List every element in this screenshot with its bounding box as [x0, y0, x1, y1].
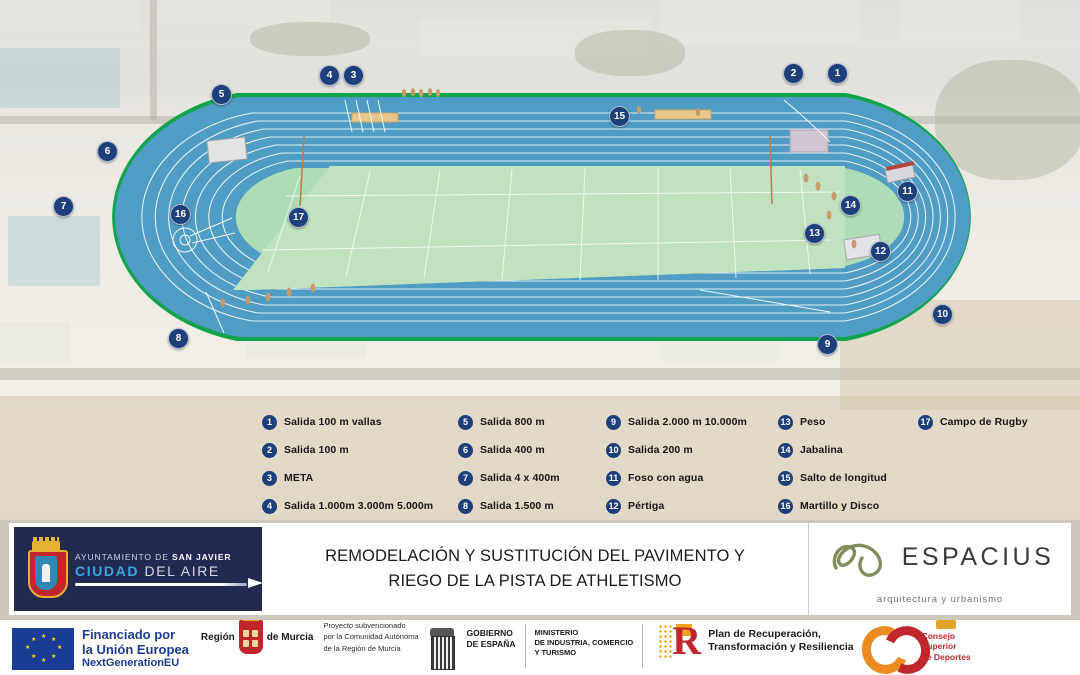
espacius-logo: ESPACIUS arquitectura y urbanismo — [808, 523, 1071, 615]
gobierno-line-2: DE ESPAÑA — [467, 639, 516, 650]
legend: 1 Salida 100 m vallas 2 Salida 100 m 3 M… — [262, 408, 1052, 518]
poster-root: 1 2 3 4 5 6 7 8 9 10 11 12 13 14 15 16 1… — [0, 0, 1080, 675]
legend-label-2: Salida 100 m — [284, 444, 349, 456]
region-de-murcia-logo: Región de Murcia — [201, 620, 314, 654]
ayuntamiento-text: AYUNTAMIENTO DE SAN JAVIER CIUDAD DEL AI… — [75, 552, 262, 586]
espacius-tagline: arquitectura y urbanismo — [877, 594, 1003, 605]
legend-item-6[interactable]: 6 Salida 400 m — [458, 443, 606, 458]
map-marker-9[interactable]: 9 — [817, 334, 838, 355]
plan-recuperacion-logo: R Plan de Recuperación, Transformación y… — [658, 620, 853, 662]
eu-flag-icon: ★ ★ ★ ★ ★ ★ ★ ★ — [12, 628, 74, 670]
map-marker-4[interactable]: 4 — [319, 65, 340, 86]
footer-divider-2 — [642, 624, 643, 668]
project-title-line-1: REMODELACIÓN Y SUSTITUCIÓN DEL PAVIMENTO… — [325, 544, 745, 569]
legend-item-14[interactable]: 14 Jabalina — [778, 443, 918, 458]
legend-label-17: Campo de Rugby — [940, 416, 1028, 428]
legend-label-16: Martillo y Disco — [800, 500, 879, 512]
map-marker-10[interactable]: 10 — [932, 304, 953, 325]
legend-item-12[interactable]: 12 Pértiga — [606, 499, 778, 514]
legend-badge-4: 4 — [262, 499, 277, 514]
legend-badge-9: 9 — [606, 415, 621, 430]
legend-item-3[interactable]: 3 META — [262, 471, 458, 486]
gobierno-text: GOBIERNO DE ESPAÑA — [467, 628, 516, 649]
map-marker-1[interactable]: 1 — [827, 63, 848, 84]
map-marker-14[interactable]: 14 — [840, 195, 861, 216]
legend-badge-6: 6 — [458, 443, 473, 458]
legend-label-7: Salida 4 x 400m — [480, 472, 560, 484]
legend-label-4: Salida 1.000m 3.000m 5.000m — [284, 500, 433, 512]
ministerio-line-3: Y TURISMO — [535, 648, 634, 658]
csd-mark-icon — [862, 620, 922, 662]
map-marker-17[interactable]: 17 — [288, 207, 309, 228]
prtr-line-2: Transformación y Resiliencia — [708, 641, 853, 654]
legend-label-1: Salida 100 m vallas — [284, 416, 382, 428]
map-marker-2[interactable]: 2 — [783, 63, 804, 84]
map-marker-8[interactable]: 8 — [168, 328, 189, 349]
prtr-text: Plan de Recuperación, Transformación y R… — [708, 628, 853, 654]
legend-badge-11: 11 — [606, 471, 621, 486]
eu-funding-text: Financiado por la Unión Europea NextGene… — [82, 628, 189, 669]
legend-item-8[interactable]: 8 Salida 1.500 m — [458, 499, 606, 514]
ciudad-word: CIUDAD — [75, 563, 139, 579]
legend-label-3: META — [284, 472, 313, 484]
legend-item-17[interactable]: 17 Campo de Rugby — [918, 415, 1052, 430]
legend-item-10[interactable]: 10 Salida 200 m — [606, 443, 778, 458]
legend-badge-2: 2 — [262, 443, 277, 458]
subvencion-line-2: por la Comunidad Autónoma — [323, 631, 418, 642]
ministerio-line-1: MINISTERIO — [535, 628, 634, 638]
legend-label-12: Pértiga — [628, 500, 664, 512]
legend-badge-7: 7 — [458, 471, 473, 486]
legend-badge-3: 3 — [262, 471, 277, 486]
legend-label-6: Salida 400 m — [480, 444, 545, 456]
legend-label-15: Salto de longitud — [800, 472, 887, 484]
eu-line-2: la Unión Europea — [82, 643, 189, 658]
eu-funding-block: ★ ★ ★ ★ ★ ★ ★ ★ Financiado por la Unión … — [0, 620, 189, 675]
subvencion-line-3: de la Región de Murcia — [323, 643, 418, 654]
project-title: REMODELACIÓN Y SUSTITUCIÓN DEL PAVIMENTO… — [262, 523, 808, 615]
legend-label-5: Salida 800 m — [480, 416, 545, 428]
legend-item-7[interactable]: 7 Salida 4 x 400m — [458, 471, 606, 486]
eu-line-1: Financiado por — [82, 628, 189, 643]
subvencion-line-1: Proyecto subvencionado — [323, 620, 418, 631]
plane-icon — [75, 583, 247, 586]
spain-crest-icon — [423, 628, 461, 672]
legend-label-10: Salida 200 m — [628, 444, 693, 456]
espacius-logo-row: ESPACIUS — [826, 534, 1055, 582]
legend-item-1[interactable]: 1 Salida 100 m vallas — [262, 415, 458, 430]
del-aire-word: DEL AIRE — [139, 563, 220, 579]
map-marker-5[interactable]: 5 — [211, 84, 232, 105]
crown-icon — [32, 541, 60, 550]
legend-label-8: Salida 1.500 m — [480, 500, 554, 512]
map-marker-16[interactable]: 16 — [170, 204, 191, 225]
murcia-prefix: Región — [201, 632, 235, 643]
shield-icon — [28, 550, 68, 598]
ayuntamiento-city: SAN JAVIER — [172, 552, 231, 562]
ministerio-line-2: DE INDUSTRIA, COMERCIO — [535, 638, 634, 648]
legend-badge-16: 16 — [778, 499, 793, 514]
espacius-name: ESPACIUS — [902, 543, 1055, 572]
legend-badge-5: 5 — [458, 415, 473, 430]
legend-badge-15: 15 — [778, 471, 793, 486]
ministerio-block: MINISTERIO DE INDUSTRIA, COMERCIO Y TURI… — [535, 620, 634, 675]
map-marker-12[interactable]: 12 — [870, 241, 891, 262]
map-marker-15[interactable]: 15 — [609, 106, 630, 127]
legend-badge-13: 13 — [778, 415, 793, 430]
murcia-crest-icon — [239, 620, 263, 654]
legend-item-15[interactable]: 15 Salto de longitud — [778, 471, 918, 486]
map-marker-6[interactable]: 6 — [97, 141, 118, 162]
long-jump-pit — [655, 110, 711, 119]
eu-line-3: NextGenerationEU — [82, 657, 189, 669]
legend-label-11: Foso con agua — [628, 472, 703, 484]
legend-item-11[interactable]: 11 Foso con agua — [606, 471, 778, 486]
gobierno-de-espana-logo: GOBIERNO DE ESPAÑA — [419, 620, 516, 675]
ayuntamiento-san-javier-logo: AYUNTAMIENTO DE SAN JAVIER CIUDAD DEL AI… — [14, 527, 262, 611]
funding-footer: ★ ★ ★ ★ ★ ★ ★ ★ Financiado por la Unión … — [0, 620, 1080, 675]
legend-label-9: Salida 2.000 m 10.000m — [628, 416, 747, 428]
footer-divider-1 — [525, 624, 526, 668]
legend-item-2[interactable]: 2 Salida 100 m — [262, 443, 458, 458]
legend-item-9[interactable]: 9 Salida 2.000 m 10.000m — [606, 415, 778, 430]
ayuntamiento-line-1: AYUNTAMIENTO DE SAN JAVIER — [75, 552, 262, 562]
murcia-suffix: de Murcia — [267, 632, 314, 643]
legend-item-4[interactable]: 4 Salida 1.000m 3.000m 5.000m — [262, 499, 458, 514]
pole-vault-box — [790, 130, 828, 152]
map-marker-7[interactable]: 7 — [53, 196, 74, 217]
legend-badge-17: 17 — [918, 415, 933, 430]
legend-item-16[interactable]: 16 Martillo y Disco — [778, 499, 918, 514]
gobierno-line-1: GOBIERNO — [467, 628, 516, 639]
csd-crown-icon — [936, 620, 956, 629]
legend-item-5[interactable]: 5 Salida 800 m — [458, 415, 606, 430]
prtr-mark-icon: R — [658, 620, 704, 662]
map-marker-11[interactable]: 11 — [897, 181, 918, 202]
project-title-line-2: RIEGO DE LA PISTA DE ATHLETISMO — [388, 569, 681, 594]
ayuntamiento-line-2: CIUDAD DEL AIRE — [75, 563, 262, 579]
prtr-line-1: Plan de Recuperación, — [708, 628, 853, 641]
csd-line-1: Consejo — [922, 631, 971, 641]
legend-badge-8: 8 — [458, 499, 473, 514]
consejo-superior-deportes-logo: Consejo Superior de Deportes — [862, 620, 971, 662]
ministerio-text: MINISTERIO DE INDUSTRIA, COMERCIO Y TURI… — [535, 628, 634, 657]
coat-of-arms-icon — [26, 541, 66, 597]
ayuntamiento-prefix: AYUNTAMIENTO DE — [75, 552, 172, 562]
legend-badge-1: 1 — [262, 415, 277, 430]
map-marker-13[interactable]: 13 — [804, 223, 825, 244]
legend-badge-10: 10 — [606, 443, 621, 458]
legend-item-13[interactable]: 13 Peso — [778, 415, 918, 430]
title-bar: AYUNTAMIENTO DE SAN JAVIER CIUDAD DEL AI… — [9, 523, 1071, 615]
legend-label-13: Peso — [800, 416, 826, 428]
legend-label-14: Jabalina — [800, 444, 843, 456]
high-jump-mat — [207, 137, 247, 163]
espacius-mark-icon — [826, 534, 898, 582]
legend-badge-14: 14 — [778, 443, 793, 458]
subvencion-text: Proyecto subvencionado por la Comunidad … — [323, 620, 418, 654]
legend-badge-12: 12 — [606, 499, 621, 514]
map-marker-3[interactable]: 3 — [343, 65, 364, 86]
